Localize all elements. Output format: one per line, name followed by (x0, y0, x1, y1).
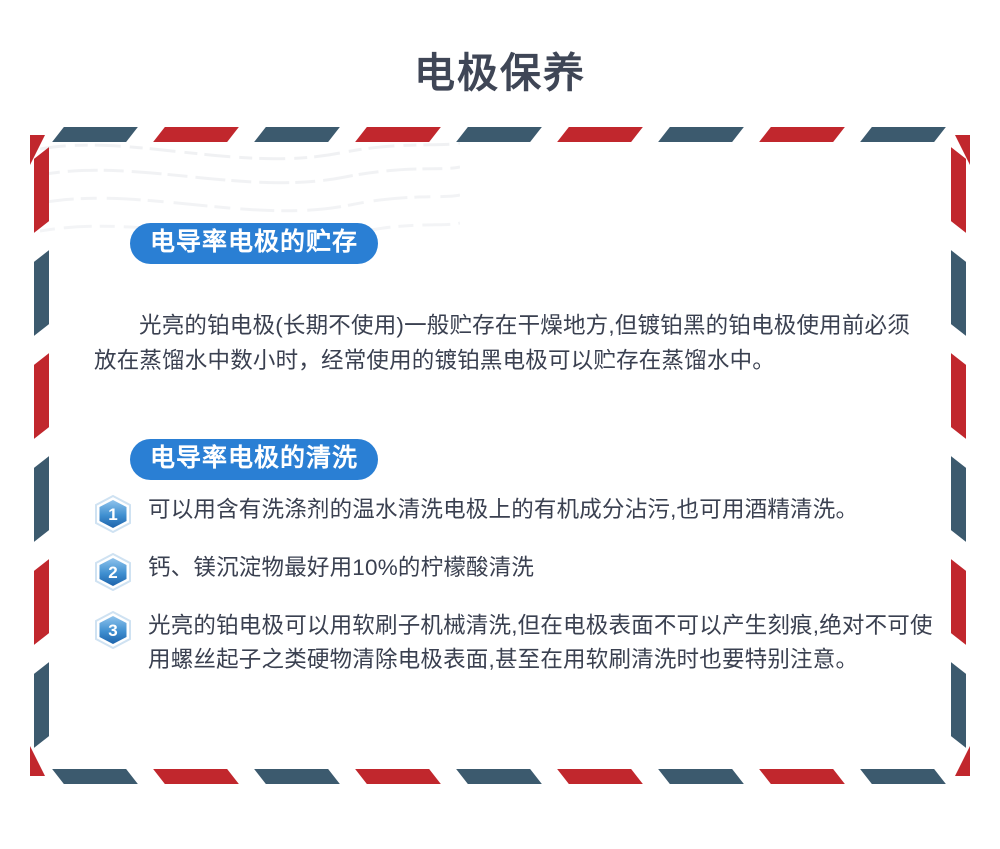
border-dash-right (951, 354, 966, 440)
step-number-hexagon-icon: 1 (94, 495, 132, 533)
border-dash-top (658, 127, 744, 142)
border-dash-bottom (759, 769, 845, 784)
border-dash-left (34, 663, 49, 749)
border-dash-right (951, 663, 966, 749)
section-heading-cleaning: 电导率电极的清洗 (130, 439, 378, 480)
border-dash-left (34, 354, 49, 440)
border-dash-bottom (456, 769, 542, 784)
corner-accent-bottom-right (955, 746, 970, 776)
svg-text:2: 2 (108, 563, 117, 582)
cleaning-step-text: 钙、镁沉淀物最好用10%的柠檬酸清洗 (148, 551, 934, 585)
svg-text:3: 3 (108, 621, 117, 640)
border-dash-bottom (355, 769, 441, 784)
border-dash-top (557, 127, 643, 142)
section-heading-label-storage: 电导率电极的贮存 (130, 223, 378, 264)
border-dash-right (951, 457, 966, 543)
cleaning-step-item: 3光亮的铂电极可以用软刷子机械清洗,但在电极表面不可以产生刻痕,绝对不可使用螺丝… (94, 609, 934, 677)
cleaning-step-text: 可以用含有洗涤剂的温水清洗电极上的有机成分沾污,也可用酒精清洗。 (148, 493, 934, 527)
content-card: 电导率电极的贮存 光亮的铂电极(长期不使用)一般贮存在干燥地方,但镀铂黑的铂电极… (30, 123, 970, 788)
border-dash-left (34, 251, 49, 337)
page-title: 电极保养 (0, 27, 1000, 98)
border-dash-top (52, 127, 138, 142)
svg-text:1: 1 (108, 505, 117, 524)
corner-accent-bottom-left (30, 746, 45, 776)
border-dash-top (254, 127, 340, 142)
section-heading-storage: 电导率电极的贮存 (130, 223, 378, 264)
border-dash-left (34, 457, 49, 543)
storage-paragraph: 光亮的铂电极(长期不使用)一般贮存在干燥地方,但镀铂黑的铂电极使用前必须放在蒸馏… (94, 308, 924, 378)
card-inner: 电导率电极的贮存 光亮的铂电极(长期不使用)一般贮存在干燥地方,但镀铂黑的铂电极… (74, 157, 926, 754)
border-dash-top (860, 127, 946, 142)
step-number-hexagon-icon: 2 (94, 553, 132, 591)
cleaning-step-text: 光亮的铂电极可以用软刷子机械清洗,但在电极表面不可以产生刻痕,绝对不可使用螺丝起… (148, 609, 934, 677)
border-dash-top (456, 127, 542, 142)
border-dash-left (34, 560, 49, 646)
border-dash-top (153, 127, 239, 142)
cleaning-step-item: 1可以用含有洗涤剂的温水清洗电极上的有机成分沾污,也可用酒精清洗。 (94, 493, 934, 533)
border-dash-bottom (254, 769, 340, 784)
border-dash-right (951, 251, 966, 337)
border-dash-bottom (860, 769, 946, 784)
border-dash-top (355, 127, 441, 142)
corner-accent-top-right (955, 135, 970, 165)
border-dash-top (759, 127, 845, 142)
border-dash-bottom (153, 769, 239, 784)
cleaning-step-list: 1可以用含有洗涤剂的温水清洗电极上的有机成分沾污,也可用酒精清洗。2钙、镁沉淀物… (94, 493, 934, 695)
step-number-hexagon-icon: 3 (94, 611, 132, 649)
section-heading-label-cleaning: 电导率电极的清洗 (130, 439, 378, 480)
border-dash-right (951, 560, 966, 646)
border-dash-bottom (658, 769, 744, 784)
cleaning-step-item: 2钙、镁沉淀物最好用10%的柠檬酸清洗 (94, 551, 934, 591)
border-dash-bottom (52, 769, 138, 784)
corner-accent-top-left (30, 135, 45, 165)
border-dash-bottom (557, 769, 643, 784)
